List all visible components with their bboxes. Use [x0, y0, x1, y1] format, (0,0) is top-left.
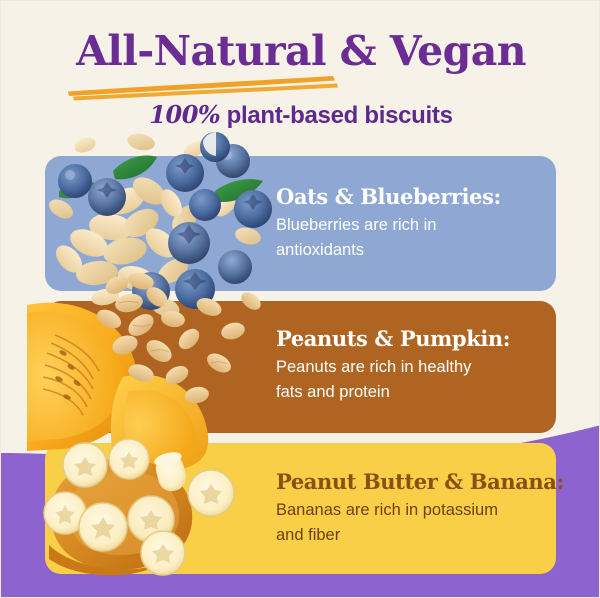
card-body-pumpkin-line2: fats and protein — [276, 380, 577, 405]
card-body-pumpkin-line1: Peanuts are rich in healthy — [276, 355, 577, 380]
card-title-pumpkin: Peanuts & Pumpkin: — [276, 326, 577, 352]
card-text-banana: Peanut Butter & Banana: Bananas are rich… — [276, 469, 577, 548]
page-subtitle: 100% plant-based biscuits — [1, 99, 600, 132]
card-text-oats: Oats & Blueberries: Blueberries are rich… — [276, 184, 577, 263]
card-title-oats: Oats & Blueberries: — [276, 184, 577, 210]
card-text-pumpkin: Peanuts & Pumpkin: Peanuts are rich in h… — [276, 326, 577, 405]
accent-swoosh-icon — [1, 75, 600, 101]
subtitle-percent: 100% — [149, 100, 220, 129]
promo-graphic: All-Natural & Vegan 100% plant-based bis… — [0, 0, 600, 598]
card-body-banana-line1: Bananas are rich in potassium — [276, 498, 577, 523]
subtitle-rest: plant-based biscuits — [220, 102, 452, 129]
card-body-banana-line2: and fiber — [276, 523, 577, 548]
card-body-oats-line1: Blueberries are rich in — [276, 213, 577, 238]
card-title-banana: Peanut Butter & Banana: — [276, 469, 577, 495]
card-body-oats-line2: antioxidants — [276, 238, 577, 263]
page-title: All-Natural & Vegan — [1, 27, 600, 75]
